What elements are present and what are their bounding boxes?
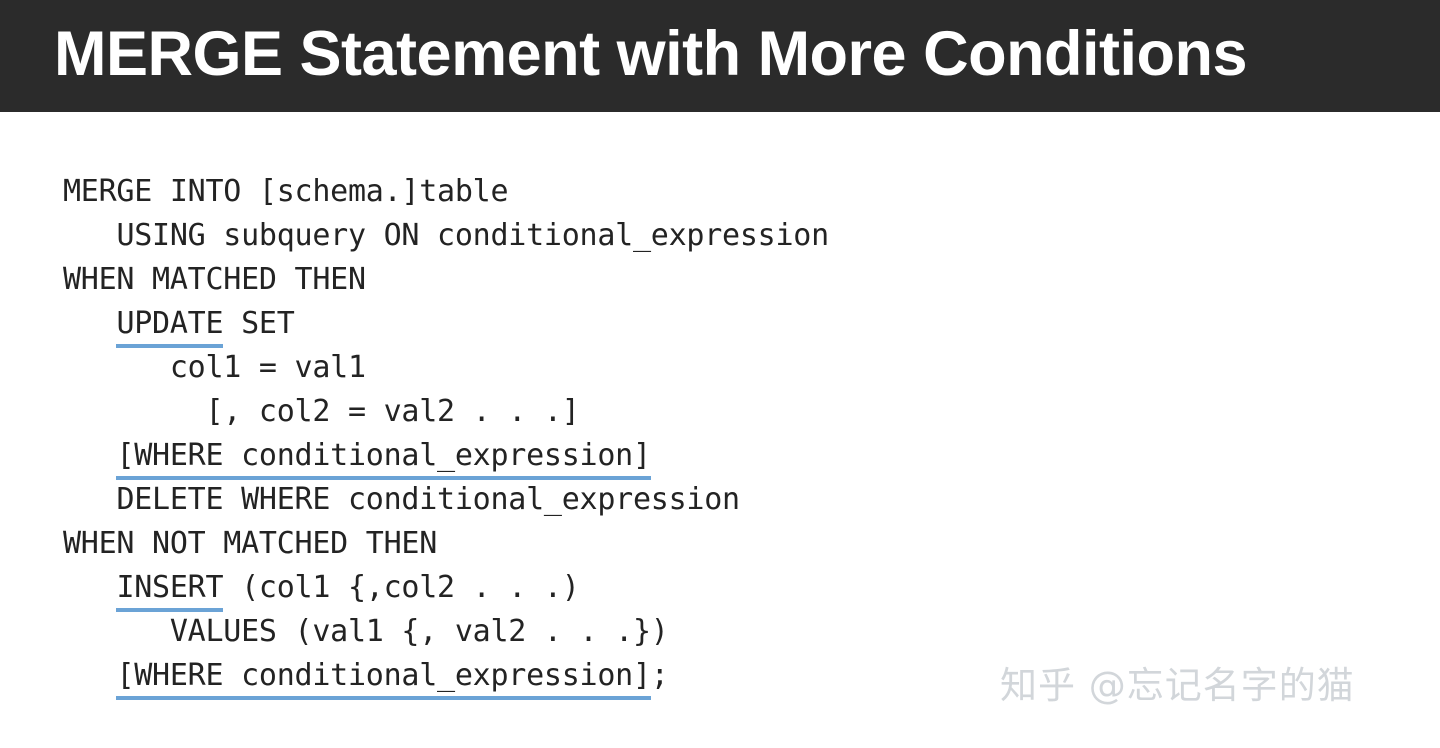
code-text: VALUES (val1 {, val2 . . .}): [170, 614, 669, 649]
code-line: VALUES (val1 {, val2 . . .}): [63, 610, 829, 654]
code-text: col1 = val1: [170, 350, 366, 385]
code-text: USING subquery ON conditional_expression: [116, 218, 828, 253]
zhihu-watermark: 知乎 @忘记名字的猫: [1000, 655, 1355, 709]
code-indent: [63, 570, 116, 605]
code-text: ;: [651, 658, 669, 693]
code-indent: [63, 438, 116, 473]
code-line: MERGE INTO [schema.]table: [63, 170, 829, 214]
code-line: DELETE WHERE conditional_expression: [63, 478, 829, 522]
code-line: INSERT (col1 {,col2 . . .): [63, 566, 829, 610]
code-line: WHEN MATCHED THEN: [63, 258, 829, 302]
sql-code-block: MERGE INTO [schema.]table USING subquery…: [63, 170, 829, 698]
code-text: WHEN NOT MATCHED THEN: [63, 526, 437, 561]
code-line: [, col2 = val2 . . .]: [63, 390, 829, 434]
code-indent: [63, 658, 116, 693]
page-title: MERGE Statement with More Conditions: [54, 6, 1247, 102]
code-line: USING subquery ON conditional_expression: [63, 214, 829, 258]
code-line: WHEN NOT MATCHED THEN: [63, 522, 829, 566]
code-underlined-keyword: INSERT: [116, 569, 223, 612]
code-indent: [63, 350, 170, 385]
code-line: col1 = val1: [63, 346, 829, 390]
code-text: [, col2 = val2 . . .]: [206, 394, 580, 429]
code-indent: [63, 218, 116, 253]
code-indent: [63, 394, 206, 429]
code-text: WHEN MATCHED THEN: [63, 262, 366, 297]
code-underlined-keyword: [WHERE conditional_expression]: [116, 657, 650, 700]
code-underlined-keyword: [WHERE conditional_expression]: [116, 437, 650, 480]
code-line: UPDATE SET: [63, 302, 829, 346]
code-indent: [63, 614, 170, 649]
code-indent: [63, 306, 116, 341]
code-line: [WHERE conditional_expression];: [63, 654, 829, 698]
code-text: DELETE WHERE conditional_expression: [116, 482, 739, 517]
code-underlined-keyword: UPDATE: [116, 305, 223, 348]
code-text: MERGE INTO [schema.]table: [63, 174, 508, 209]
slide-header-band: MERGE Statement with More Conditions: [0, 0, 1440, 112]
code-body-area: MERGE INTO [schema.]table USING subquery…: [0, 112, 1440, 748]
code-text: SET: [223, 306, 294, 341]
code-line: [WHERE conditional_expression]: [63, 434, 829, 478]
code-indent: [63, 482, 116, 517]
code-text: (col1 {,col2 . . .): [223, 570, 579, 605]
